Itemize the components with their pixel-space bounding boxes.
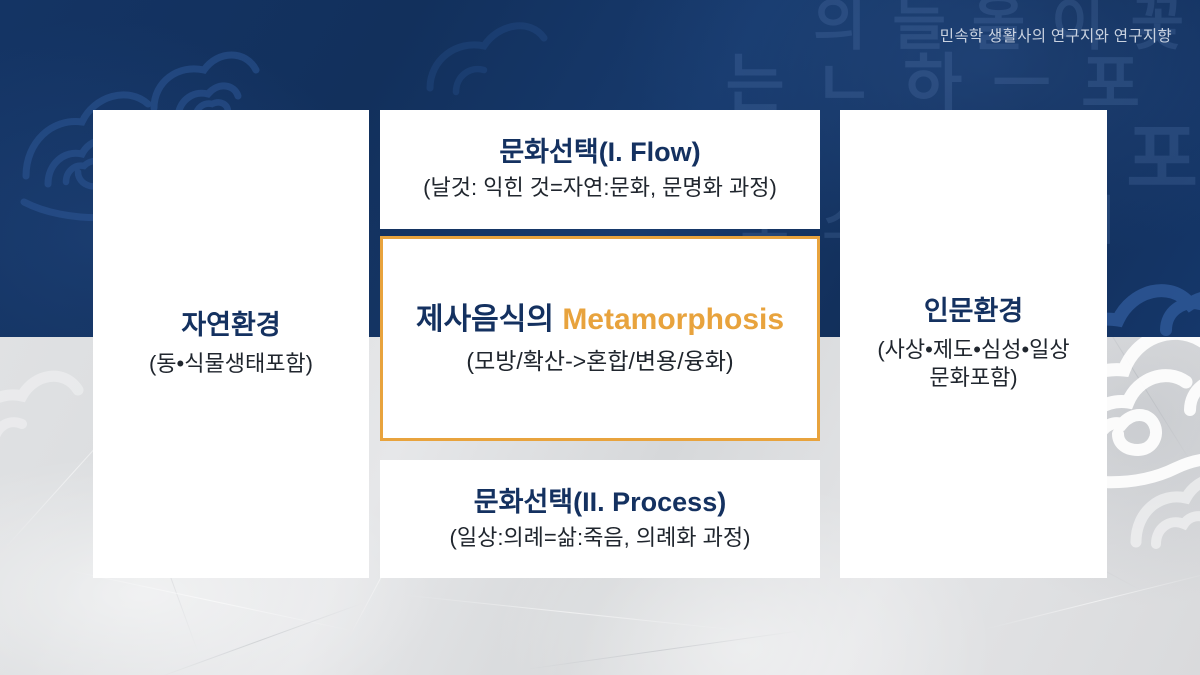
card-top-subtitle: (날것: 익힌 것=자연:문화, 문명화 과정) — [423, 174, 777, 203]
card-natural-environment[interactable]: 자연환경 (동•식물생태포함) — [93, 110, 369, 578]
card-humanistic-environment[interactable]: 인문환경 (사상•제도•심성•일상 문화포함) — [840, 110, 1107, 578]
card-center-subtitle: (모방/확산->혼합/변용/융화) — [466, 342, 733, 376]
card-top-title: 문화선택(I. Flow) — [499, 136, 700, 170]
card-left-title: 자연환경 — [181, 309, 280, 343]
card-metamorphosis-highlight[interactable]: 제사음식의 Metamorphosis (모방/확산->혼합/변용/융화) — [380, 236, 820, 441]
card-right-title: 인문환경 — [924, 295, 1023, 329]
hangul-watermark: 는ㄴ하ㅡ포 — [726, 52, 1170, 116]
page-title: 민속학 생활사의 연구지와 연구지향 — [940, 24, 1172, 46]
card-center-title-english: Metamorphosis — [562, 303, 784, 336]
card-center-title-korean: 제사음식의 — [416, 303, 554, 336]
slide-canvas: 의늘올이꽃 는ㄴ하ㅡ포 늘올이꽃밭포 로소마제의 민속학 생활사의 연구지와 연… — [0, 0, 1200, 675]
card-center-title: 제사음식의 Metamorphosis — [416, 302, 784, 338]
card-cultural-selection-flow[interactable]: 문화선택(I. Flow) (날것: 익힌 것=자연:문화, 문명화 과정) — [380, 110, 820, 229]
cloud-motif-top-mid-navy — [420, 4, 680, 124]
card-bottom-subtitle: (일상:의례=삶:죽음, 의례화 과정) — [450, 524, 751, 553]
card-cultural-selection-process[interactable]: 문화선택(II. Process) (일상:의례=삶:죽음, 의례화 과정) — [380, 460, 820, 578]
card-right-subtitle: (사상•제도•심성•일상 문화포함) — [866, 336, 1081, 393]
card-bottom-title: 문화선택(II. Process) — [474, 486, 726, 520]
cloud-motif-right-lower-paper — [1130, 452, 1200, 602]
card-left-subtitle: (동•식물생태포함) — [149, 350, 313, 379]
